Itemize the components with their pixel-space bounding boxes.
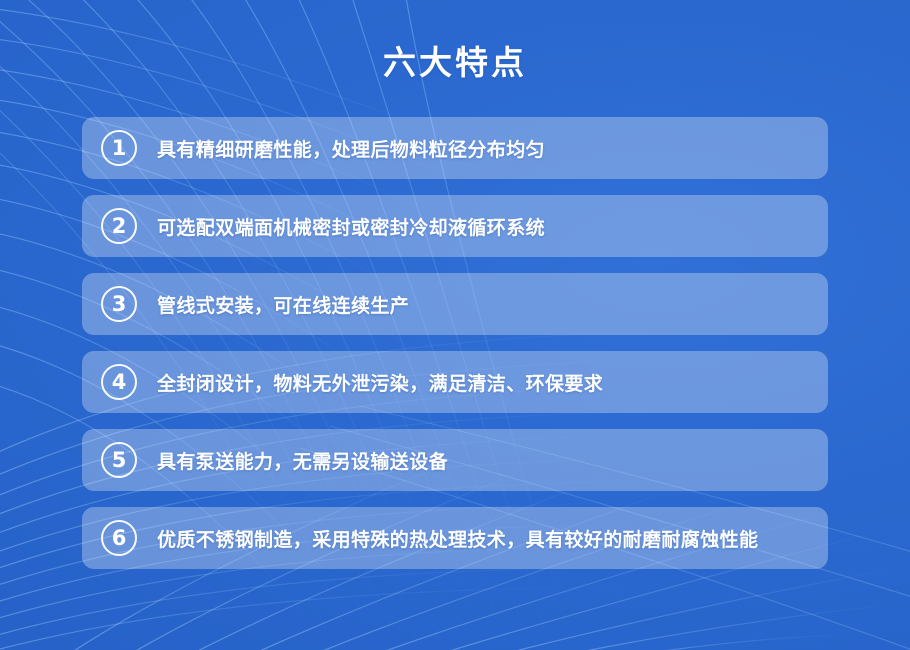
feature-row-5: 5 具有泵送能力，无需另设输送设备 [82, 429, 828, 491]
feature-row-3: 3 管线式安装，可在线连续生产 [82, 273, 828, 335]
feature-list: 1 具有精细研磨性能，处理后物料粒径分布均匀 2 可选配双端面机械密封或密封冷却… [82, 117, 828, 569]
page-title: 六大特点 [0, 42, 910, 84]
feature-row-1: 1 具有精细研磨性能，处理后物料粒径分布均匀 [82, 117, 828, 179]
feature-number-badge-5: 5 [101, 442, 137, 478]
feature-row-4: 4 全封闭设计，物料无外泄污染，满足清洁、环保要求 [82, 351, 828, 413]
feature-text-5: 具有泵送能力，无需另设输送设备 [157, 447, 448, 474]
feature-row-6: 6 优质不锈钢制造，采用特殊的热处理技术，具有较好的耐磨耐腐蚀性能 [82, 507, 828, 569]
feature-number-badge-6: 6 [101, 520, 137, 556]
feature-row-2: 2 可选配双端面机械密封或密封冷却液循环系统 [82, 195, 828, 257]
feature-number-badge-2: 2 [101, 208, 137, 244]
feature-number-badge-4: 4 [101, 364, 137, 400]
feature-number-badge-1: 1 [101, 130, 137, 166]
feature-number-badge-3: 3 [101, 286, 137, 322]
feature-text-2: 可选配双端面机械密封或密封冷却液循环系统 [157, 213, 545, 240]
feature-text-3: 管线式安装，可在线连续生产 [157, 291, 409, 318]
feature-text-1: 具有精细研磨性能，处理后物料粒径分布均匀 [157, 135, 545, 162]
feature-text-6: 优质不锈钢制造，采用特殊的热处理技术，具有较好的耐磨耐腐蚀性能 [157, 525, 758, 552]
feature-text-4: 全封闭设计，物料无外泄污染，满足清洁、环保要求 [157, 369, 603, 396]
